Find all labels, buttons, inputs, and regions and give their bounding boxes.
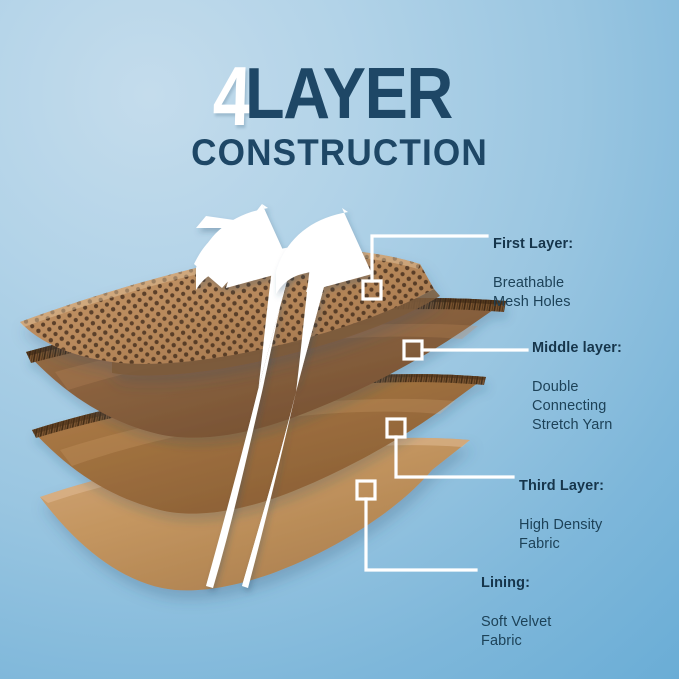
- layer-stack-illustration: [0, 0, 679, 679]
- infographic-canvas: 4 LAYER CONSTRUCTION First Layer: Breath…: [0, 0, 679, 679]
